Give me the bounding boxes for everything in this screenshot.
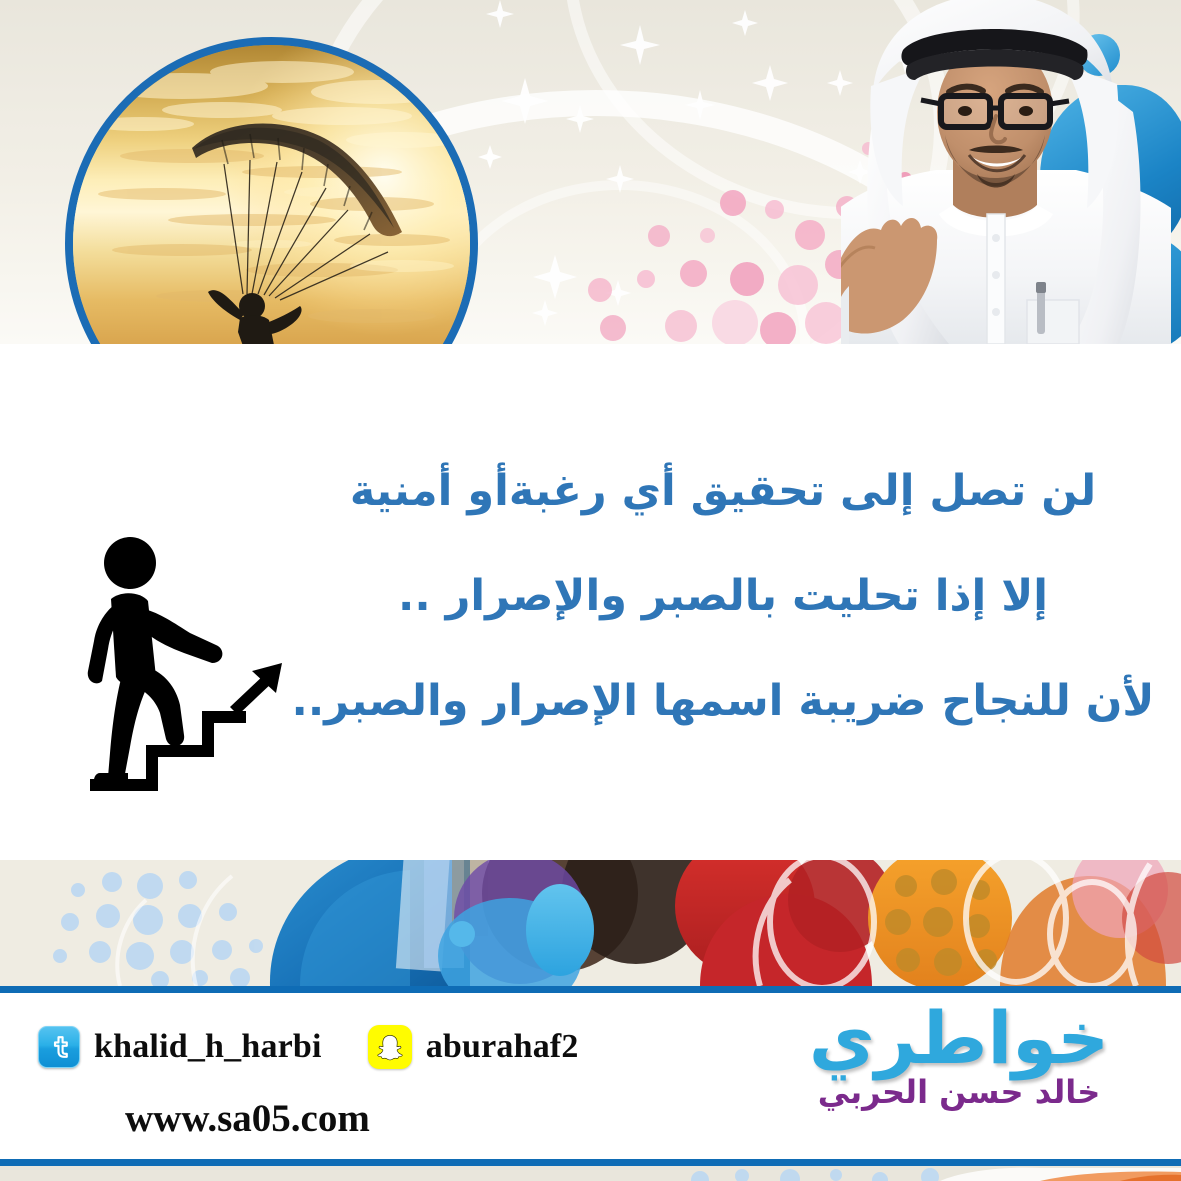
pink-dot-decoration: [600, 315, 626, 341]
twitter-link[interactable]: khalid_h_harbi: [38, 1026, 322, 1068]
pink-dot-decoration: [720, 190, 746, 216]
pink-dot-decoration: [760, 312, 796, 344]
pink-dot-decoration: [778, 265, 818, 305]
snapchat-link[interactable]: aburahaf2: [368, 1025, 579, 1069]
pink-dot-decoration: [795, 220, 825, 250]
bottom-decorative-band: [0, 1166, 1181, 1181]
quote-line-2: إلا إذا تحليت بالصبر والإصرار ..: [283, 575, 1163, 618]
quote-line-3: لأن للنجاح ضريبة اسمها الإصرار والصبر..: [283, 680, 1163, 723]
footer: khalid_h_harbi aburahaf2 www.sa05.com خو…: [0, 993, 1181, 1159]
website-url[interactable]: www.sa05.com: [125, 1096, 370, 1141]
footer-top-rule: [0, 986, 1181, 993]
brand-author: خالد حسن الحربي: [759, 1075, 1159, 1110]
decorative-color-band: [0, 860, 1181, 986]
pink-dot-decoration: [665, 310, 697, 342]
pink-dot-decoration: [765, 200, 784, 219]
pink-dot-decoration: [637, 270, 655, 288]
quote-block: لن تصل إلى تحقيق أي رغبةأو أمنية إلا إذا…: [283, 470, 1163, 723]
footer-bottom-rule: [0, 1159, 1181, 1166]
brand-lockup: خواطري خالد حسن الحربي: [759, 1001, 1159, 1110]
twitter-icon[interactable]: [38, 1026, 80, 1068]
twitter-handle[interactable]: khalid_h_harbi: [94, 1028, 322, 1066]
pink-dot-decoration: [648, 225, 670, 247]
snapchat-handle[interactable]: aburahaf2: [426, 1028, 579, 1066]
pink-dot-decoration: [712, 300, 758, 344]
quote-line-1: لن تصل إلى تحقيق أي رغبةأو أمنية: [283, 470, 1163, 513]
pink-dot-decoration: [680, 260, 707, 287]
top-banner: [0, 0, 1181, 344]
brand-title: خواطري: [759, 1001, 1159, 1077]
social-links-row: khalid_h_harbi aburahaf2: [38, 1025, 579, 1069]
person-climbing-stairs-icon: [78, 535, 293, 815]
poster-canvas: لن تصل إلى تحقيق أي رغبةأو أمنية إلا إذا…: [0, 0, 1181, 1181]
pink-dot-decoration: [730, 262, 764, 296]
portrait-photo: [841, 0, 1171, 344]
pink-dot-decoration: [588, 278, 612, 302]
snapchat-icon[interactable]: [368, 1025, 412, 1069]
pink-dot-decoration: [700, 228, 715, 243]
